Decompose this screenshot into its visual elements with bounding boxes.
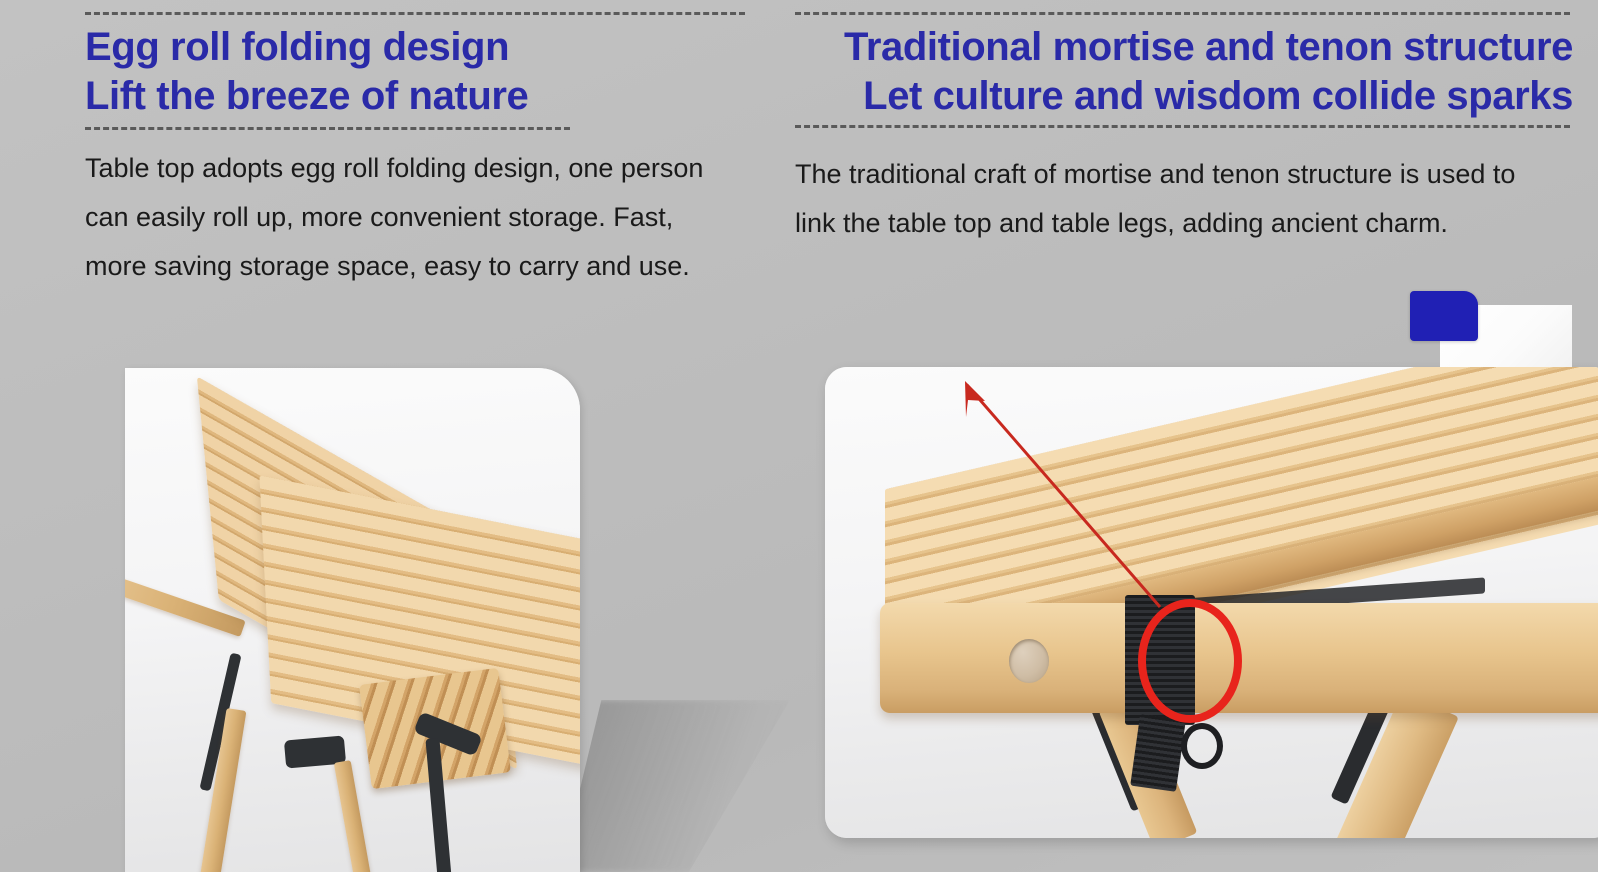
black-webbing-strap (1125, 595, 1195, 725)
right-heading-line-1: Traditional mortise and tenon structure (795, 23, 1573, 72)
left-heading: Egg roll folding design Lift the breeze … (85, 15, 725, 121)
infographic-page: Egg roll folding design Lift the breeze … (0, 0, 1598, 872)
right-body-text: The traditional craft of mortise and ten… (795, 128, 1555, 249)
right-product-photo (825, 367, 1598, 838)
left-heading-line-2: Lift the breeze of nature (85, 72, 725, 121)
left-product-photo (125, 368, 580, 872)
left-body-text: Table top adopts egg roll folding design… (85, 130, 725, 292)
strap-d-ring (1181, 723, 1223, 769)
left-photo-scene (125, 368, 580, 872)
corner-badge-blue-tab[interactable] (1410, 291, 1478, 341)
mortise-hole (1009, 639, 1049, 683)
right-heading-line-2: Let culture and wisdom collide sparks (795, 72, 1573, 121)
left-heading-line-1: Egg roll folding design (85, 23, 725, 72)
floor-shadow (560, 700, 790, 872)
right-photo-scene (825, 367, 1598, 838)
right-feature-column: Traditional mortise and tenon structure … (795, 0, 1575, 248)
right-heading: Traditional mortise and tenon structure … (795, 15, 1575, 121)
rolled-table-top (125, 408, 580, 872)
side-rail-beam (880, 603, 1598, 713)
left-feature-column: Egg roll folding design Lift the breeze … (85, 0, 725, 292)
